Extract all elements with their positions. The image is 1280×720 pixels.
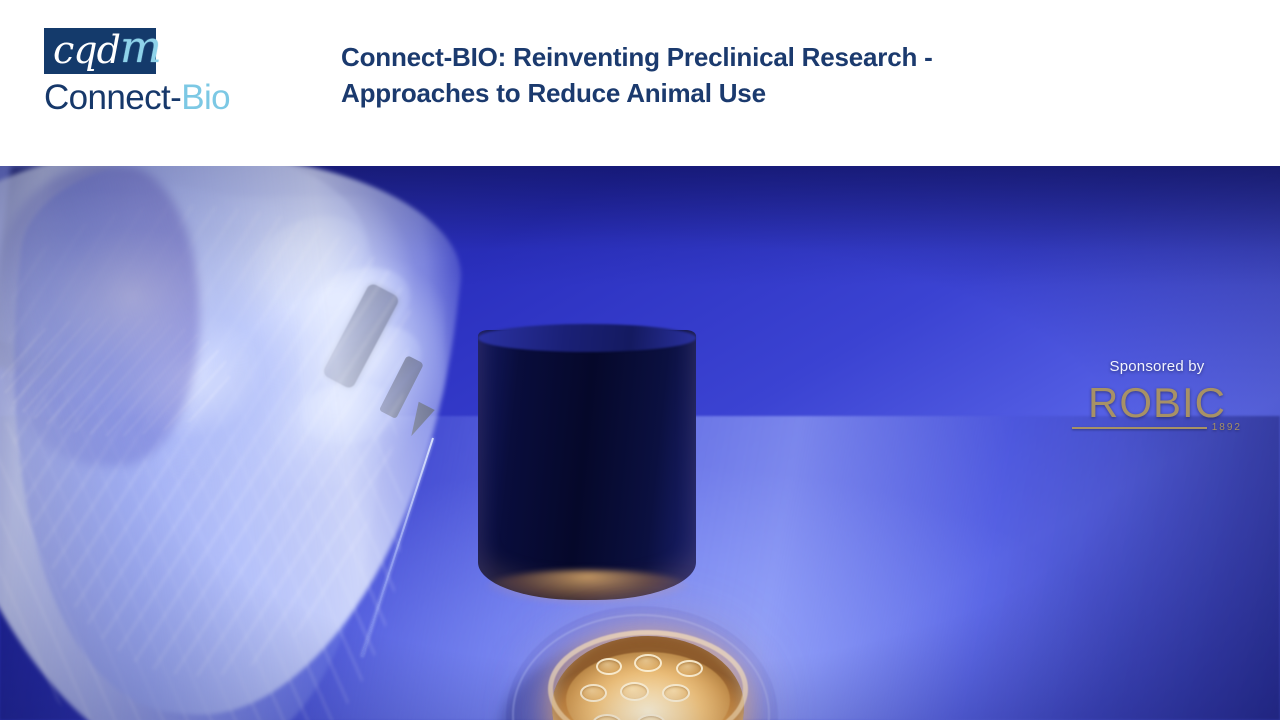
cqdm-logo-text: cqd xyxy=(53,27,120,73)
robic-logo: ROBIC 1892 xyxy=(1072,380,1242,433)
cqdm-logo-m-accent: m xyxy=(120,25,162,71)
sponsor-badge: Sponsored by ROBIC 1892 xyxy=(1072,358,1242,433)
cqdm-logo-mark: cqd m xyxy=(44,28,156,74)
brand-wordmark-primary: Connect- xyxy=(44,78,181,117)
slide-title-line-2: Approaches to Reduce Animal Use xyxy=(341,75,1101,111)
robic-logo-year: 1892 xyxy=(1212,422,1242,433)
brand-wordmark: Connect-Bio xyxy=(44,77,314,119)
robic-logo-wordmark: ROBIC xyxy=(1072,380,1242,426)
slide-title-line-1: Connect-BIO: Reinventing Preclinical Res… xyxy=(341,39,1101,75)
slide-header: cqd m Connect-Bio Connect-BIO: Reinventi… xyxy=(0,0,1280,166)
brand-wordmark-accent: Bio xyxy=(181,78,230,117)
presentation-slide: cqd m Connect-Bio Connect-BIO: Reinventi… xyxy=(0,0,1280,720)
laboratory-photo: Sponsored by ROBIC 1892 xyxy=(0,166,1280,720)
photo-vignette xyxy=(0,166,1280,720)
sponsored-by-label: Sponsored by xyxy=(1072,358,1242,376)
cqdm-connect-bio-logo: cqd m Connect-Bio xyxy=(44,28,314,119)
slide-title: Connect-BIO: Reinventing Preclinical Res… xyxy=(341,39,1101,111)
robic-logo-rule xyxy=(1072,427,1207,429)
